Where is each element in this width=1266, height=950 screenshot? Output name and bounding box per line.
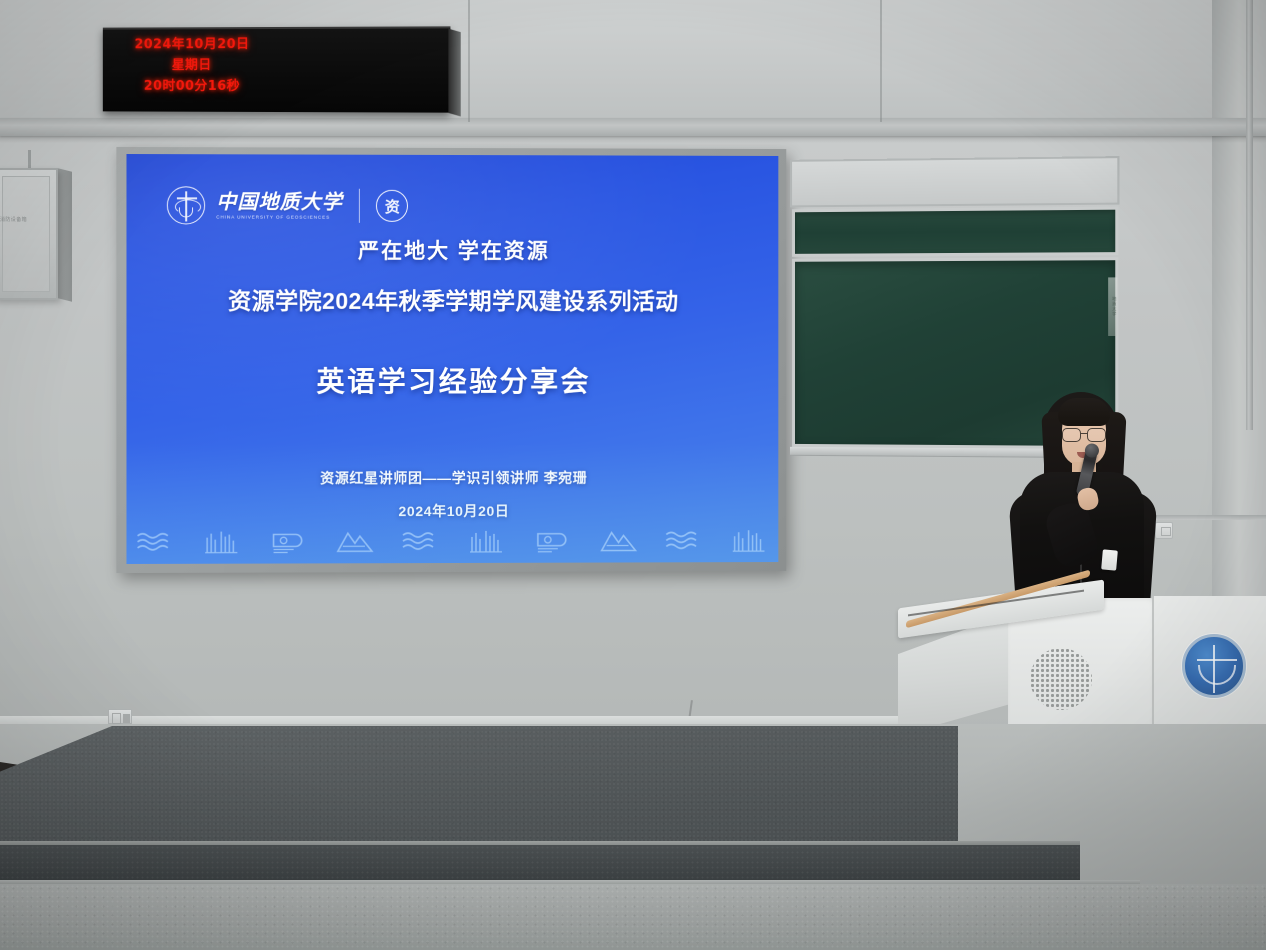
university-name-en: CHINA UNIVERSITY OF GEOSCIENCES: [216, 215, 343, 220]
led-clock-time: 20时00分16秒: [118, 76, 266, 97]
stage-texture: [0, 726, 958, 846]
wall-power-socket[interactable]: [1155, 522, 1173, 539]
wall-seam: [880, 0, 882, 122]
ceiling-beam: [0, 118, 1266, 136]
slide-subtitle: 资源学院2024年秋季学期学风建设系列活动: [126, 282, 778, 317]
university-seal-icon: [167, 186, 205, 224]
lower-floor-texture: [0, 884, 1266, 950]
wall-equipment-cabinet[interactable]: 消防设备箱: [0, 168, 58, 300]
stage-riser-texture: [0, 845, 1080, 883]
slide-logo-row: 中国地质大学 CHINA UNIVERSITY OF GEOSCIENCES 资: [167, 186, 409, 225]
slide-motif-strip: [126, 524, 778, 556]
university-name-block: 中国地质大学 CHINA UNIVERSITY OF GEOSCIENCES: [216, 191, 343, 220]
cabinet-side-face: [58, 168, 72, 301]
glasses-icon: [1061, 428, 1107, 440]
mountain-motif-icon: [599, 525, 639, 555]
rock-motif-icon: [269, 525, 309, 555]
rock-motif-icon: [533, 525, 573, 555]
name-badge: [1101, 549, 1118, 570]
city-motif-icon: [202, 526, 242, 556]
floor-power-socket[interactable]: [108, 709, 132, 724]
university-name-cn: 中国地质大学: [216, 191, 343, 211]
slide-slogan: 严在地大 学在资源: [126, 234, 778, 265]
beam-shadow: [0, 136, 1266, 143]
presentation-slide: 中国地质大学 CHINA UNIVERSITY OF GEOSCIENCES 资…: [126, 154, 778, 564]
projection-screen-frame: 中国地质大学 CHINA UNIVERSITY OF GEOSCIENCES 资…: [116, 147, 786, 573]
podium-speaker-grille-icon: [1030, 648, 1092, 710]
city-motif-icon: [467, 525, 507, 555]
hair-fringe: [1058, 398, 1110, 426]
projection-screen: 中国地质大学 CHINA UNIVERSITY OF GEOSCIENCES 资…: [126, 154, 778, 564]
blackboard-side-label: 地质大学: [1108, 277, 1117, 336]
led-clock-display: 2024年10月20日 星期日 20时00分16秒: [103, 26, 451, 112]
wall-seam: [468, 0, 470, 122]
led-clock-weekday: 星期日: [118, 55, 266, 76]
led-clock-date: 2024年10月20日: [118, 35, 266, 55]
podium-university-seal-icon: [1182, 634, 1246, 698]
logo-divider: [359, 189, 360, 223]
wave-motif-icon: [136, 526, 176, 556]
college-seal-icon: 资: [376, 190, 408, 222]
cabinet-label: 消防设备箱: [0, 216, 27, 223]
lecture-hall-photo: 2024年10月20日 星期日 20时00分16秒 消防设备箱 中国地质大学 C…: [0, 0, 1266, 950]
cabinet-mount-stem: [28, 150, 31, 170]
blackboard-upper-board: [792, 207, 1118, 257]
wave-motif-icon: [401, 525, 441, 555]
cabinet-door: [2, 176, 50, 292]
slide-main-title: 英语学习经验分享会: [126, 360, 778, 400]
city-motif-icon: [730, 524, 770, 554]
mountain-motif-icon: [335, 525, 375, 555]
wave-motif-icon: [664, 524, 704, 554]
wall-pipe: [1246, 0, 1253, 430]
blackboard-top-panel: [790, 156, 1119, 207]
